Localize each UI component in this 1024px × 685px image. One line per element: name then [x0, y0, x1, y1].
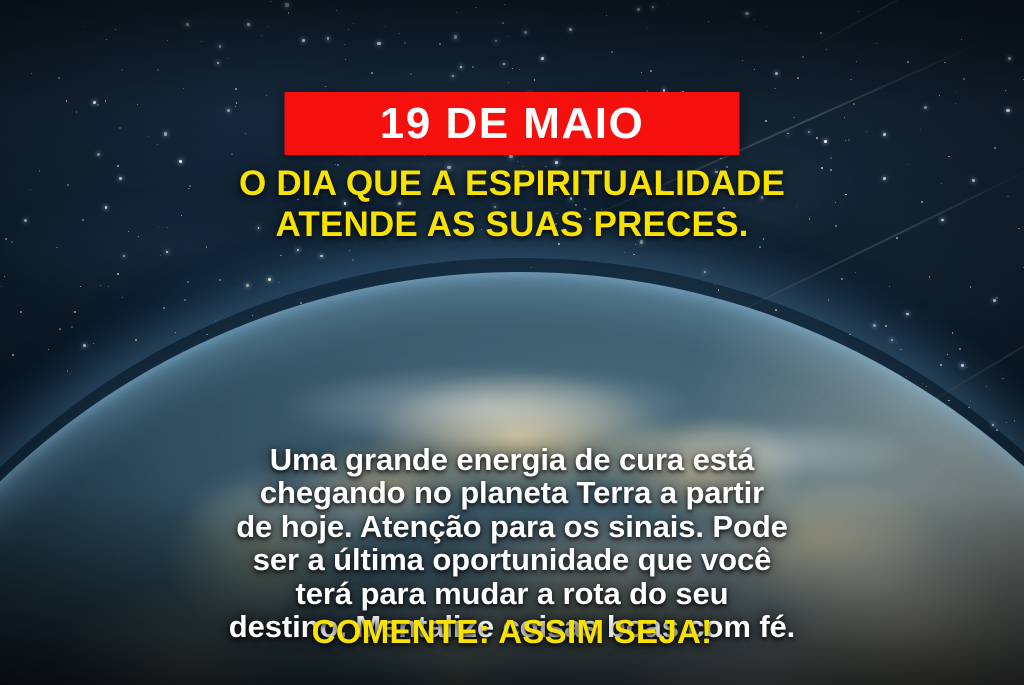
headline-line-1: O DIA QUE A ESPIRITUALIDADE	[40, 164, 984, 205]
body-line-1: Uma grande energia de cura está	[26, 443, 998, 476]
body-line-4: ser a última oportunidade que você	[26, 543, 998, 576]
poster-canvas: 19 DE MAIO O DIA QUE A ESPIRITUALIDADE A…	[0, 0, 1024, 685]
body-line-5: terá para mudar a rota do seu	[26, 577, 998, 610]
poster-content: 19 DE MAIO O DIA QUE A ESPIRITUALIDADE A…	[0, 0, 1024, 685]
headline: O DIA QUE A ESPIRITUALIDADE ATENDE AS SU…	[0, 164, 1024, 245]
body-line-2: chegando no planeta Terra a partir	[26, 476, 998, 509]
date-banner: 19 DE MAIO	[285, 92, 740, 155]
body-line-3: de hoje. Atenção para os sinais. Pode	[26, 510, 998, 543]
call-to-action-text: COMENTE: ASSIM SEJA!	[0, 615, 1024, 648]
date-banner-label: 19 DE MAIO	[380, 102, 644, 146]
headline-line-2: ATENDE AS SUAS PRECES.	[40, 205, 984, 246]
